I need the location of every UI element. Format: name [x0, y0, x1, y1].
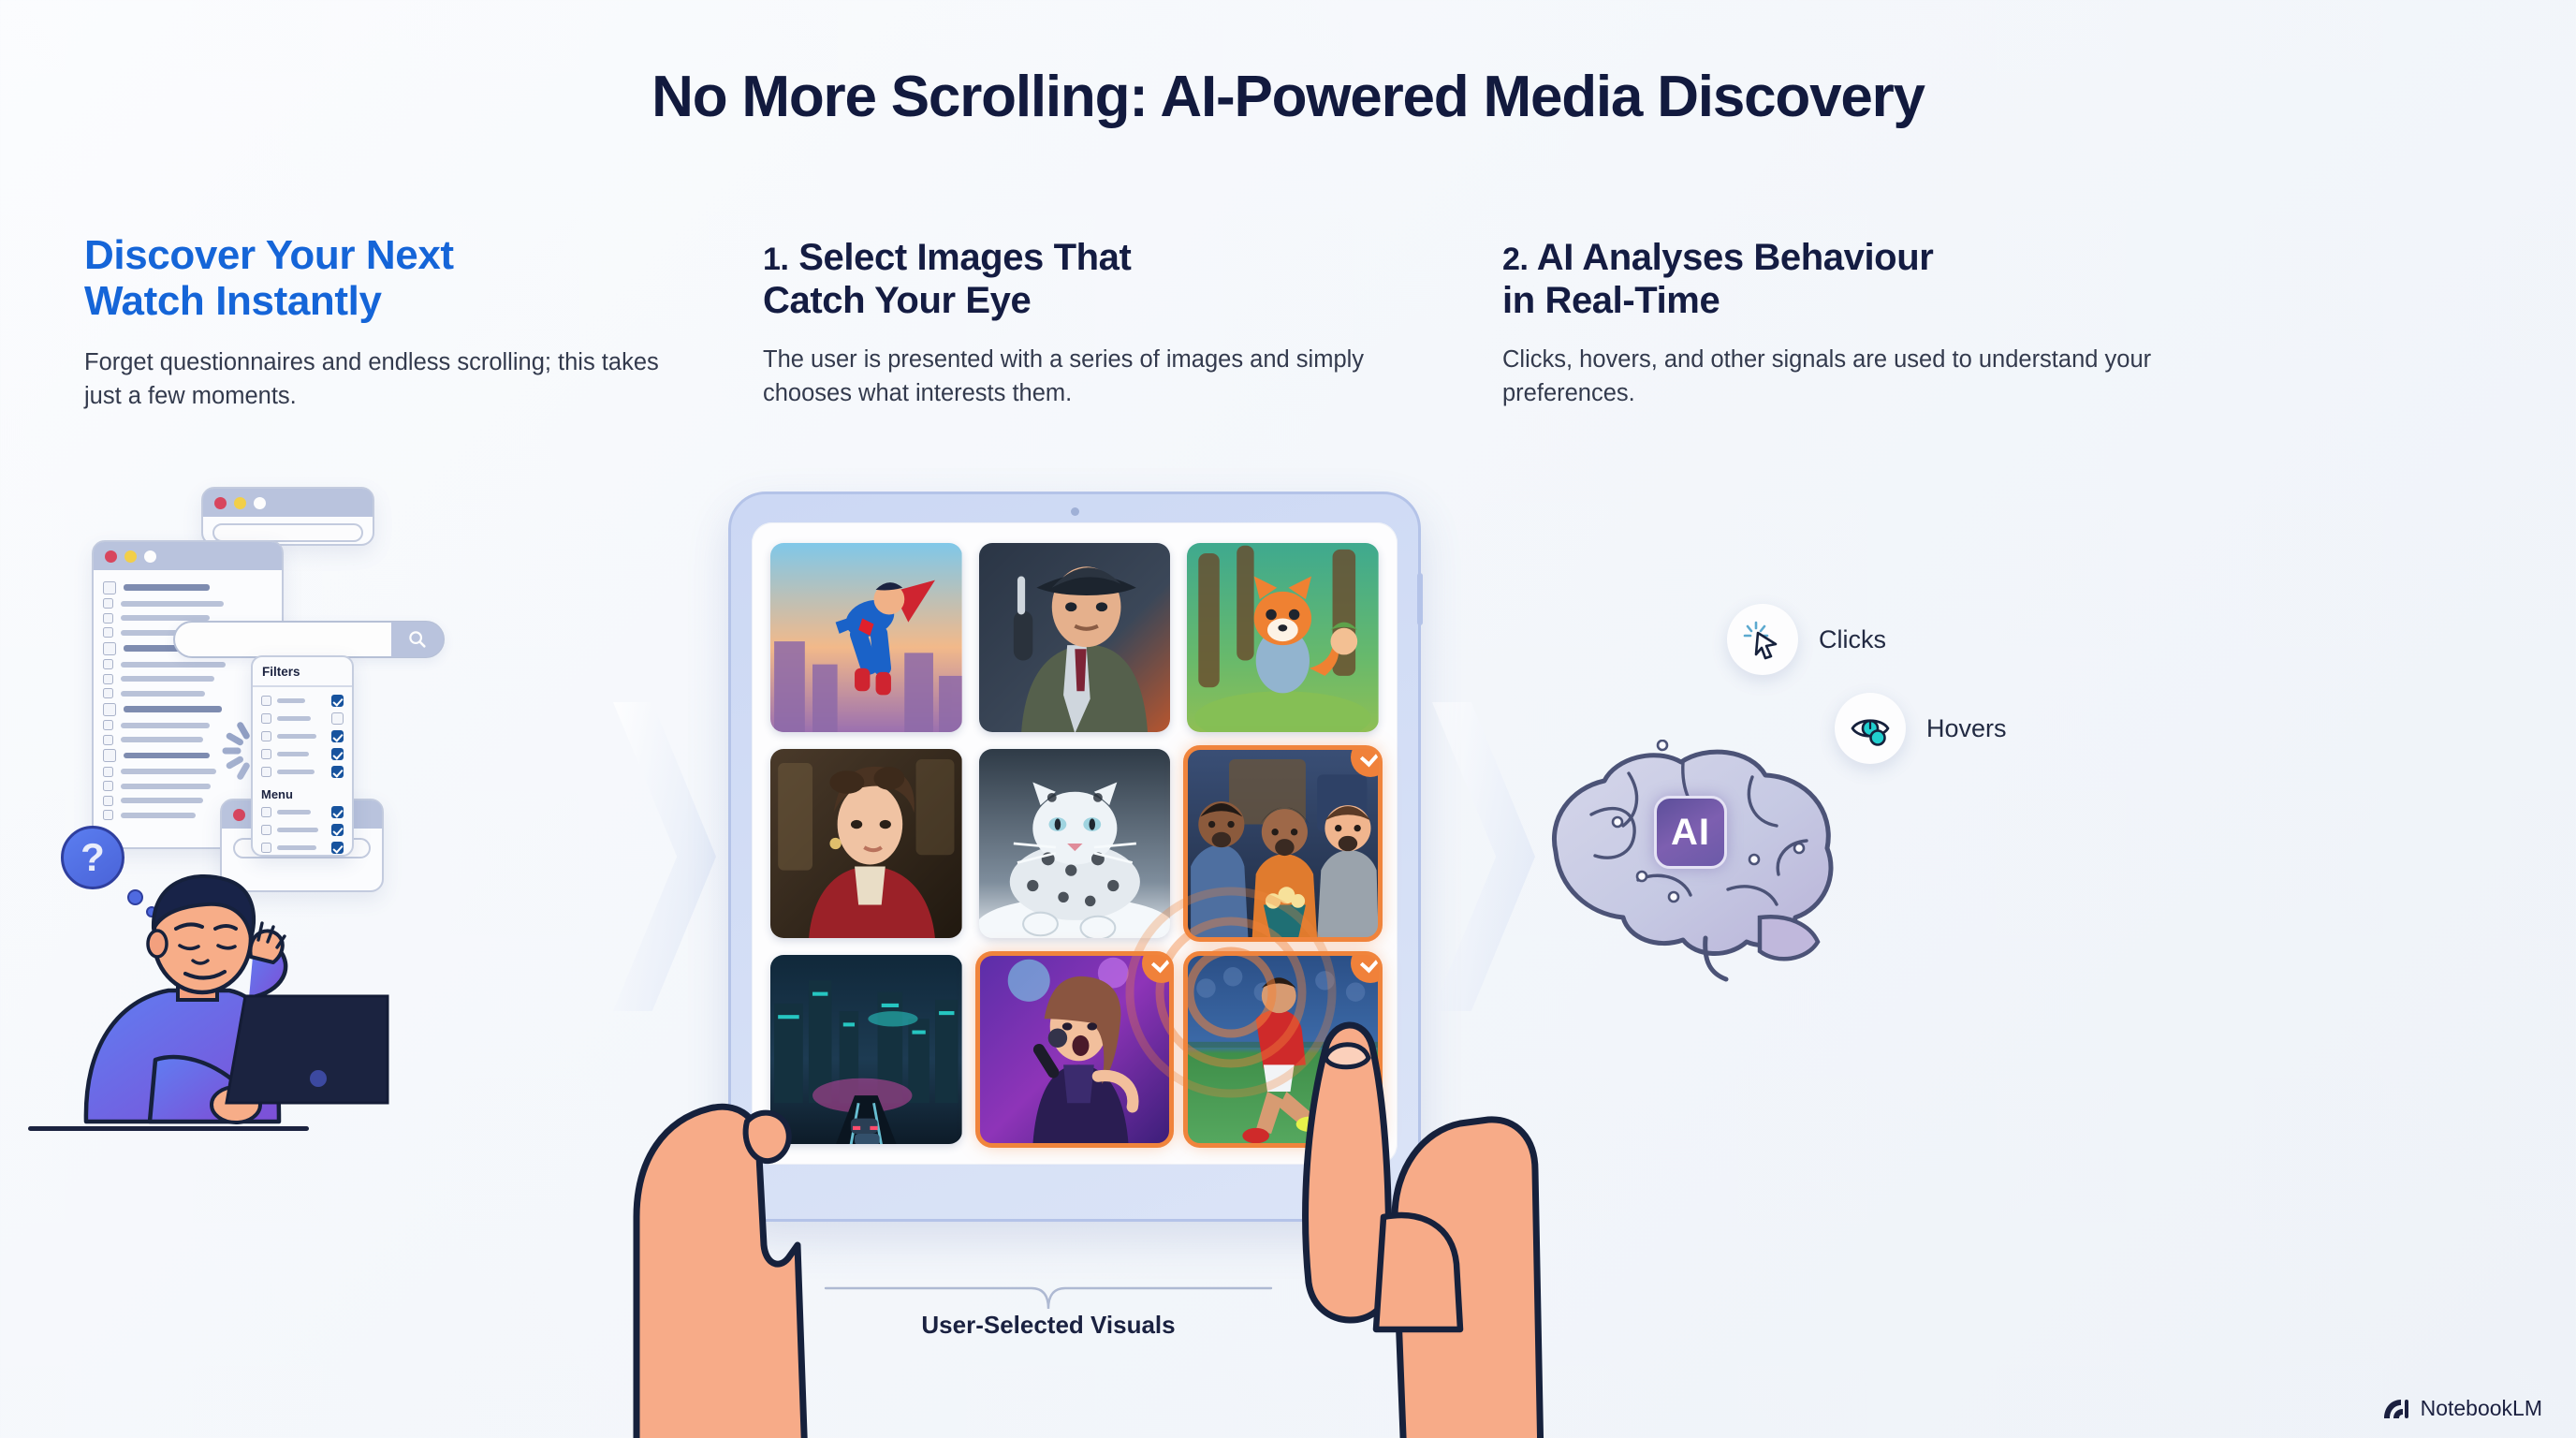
filter-row[interactable] — [253, 745, 352, 763]
hands-holding-tablet — [524, 936, 1647, 1438]
clicks-icon-circle — [1727, 604, 1798, 675]
window-titlebar — [203, 489, 373, 517]
text-line — [124, 706, 222, 712]
checkbox-icon[interactable] — [261, 807, 271, 817]
filter-label-line — [277, 734, 316, 739]
text-line — [121, 813, 196, 818]
toggle-checkbox[interactable] — [331, 730, 344, 742]
column-body: Clicks, hovers, and other signals are us… — [1502, 343, 2158, 410]
menu-title: Menu — [253, 781, 352, 803]
browser-window-top — [201, 487, 374, 546]
text-line — [121, 662, 226, 668]
text-line — [121, 676, 214, 682]
heading-line-2: Watch Instantly — [84, 278, 683, 324]
minimize-dot-icon — [124, 550, 137, 563]
checkbox-icon — [103, 688, 113, 698]
text-line — [121, 769, 216, 774]
watermark-label: NotebookLM — [2421, 1396, 2542, 1421]
column-body: Forget questionnaires and endless scroll… — [84, 345, 683, 413]
heading-line-1: 2. AI Analyses Behaviour — [1502, 236, 2158, 279]
filter-row[interactable] — [253, 803, 352, 821]
touch-ripple-icon — [1119, 880, 1343, 1105]
signal-hovers: Hovers — [1835, 693, 2007, 764]
text-line — [124, 753, 210, 759]
filter-row-list — [253, 687, 352, 781]
checkbox-icon — [103, 720, 113, 730]
thumbnail-period-drama — [770, 749, 962, 938]
checkbox-icon — [103, 674, 113, 684]
hovers-icon-circle — [1835, 693, 1906, 764]
page-title: No More Scrolling: AI-Powered Media Disc… — [0, 64, 2576, 130]
filter-row[interactable] — [253, 692, 352, 710]
checkbox-icon — [103, 703, 116, 716]
frustrated-person: ? — [37, 824, 346, 1142]
checkbox-icon — [103, 810, 113, 820]
maximize-dot-icon — [254, 497, 266, 509]
search-icon — [407, 629, 428, 650]
heading-text: AI Analyses Behaviour — [1537, 237, 1934, 278]
checkbox-icon[interactable] — [261, 713, 271, 724]
ai-chip-badge: AI — [1654, 796, 1727, 869]
eye-hover-icon — [1848, 706, 1893, 751]
filter-label-line — [277, 770, 315, 774]
column-discover: Discover Your Next Watch Instantly Forge… — [84, 232, 683, 413]
text-line — [121, 691, 205, 697]
camera-icon — [1071, 507, 1079, 516]
text-line — [121, 798, 203, 803]
maximize-dot-icon — [144, 550, 156, 563]
cursor-click-icon — [1740, 617, 1785, 662]
close-dot-icon — [105, 550, 117, 563]
thumbnail-detective-noir — [979, 543, 1171, 732]
text-line — [124, 584, 210, 591]
column-ai-analyses: 2. AI Analyses Behaviour in Real-Time Cl… — [1502, 236, 2158, 410]
thumbnail-superhero-flying — [770, 543, 962, 732]
filter-label-line — [277, 810, 311, 814]
toggle-checkbox[interactable] — [331, 712, 344, 725]
chevron-down-icon[interactable] — [328, 668, 343, 677]
toggle-checkbox[interactable] — [331, 695, 344, 707]
filters-title: Filters — [262, 665, 300, 679]
checkbox-icon — [103, 581, 116, 594]
text-line — [121, 784, 211, 789]
checkbox-icon — [103, 659, 113, 669]
column-heading: 2. AI Analyses Behaviour in Real-Time — [1502, 236, 2158, 322]
minimize-dot-icon — [234, 497, 246, 509]
checkbox-icon — [103, 627, 113, 638]
step-number: 1. — [763, 242, 789, 277]
search-button[interactable] — [391, 622, 444, 657]
step-number: 2. — [1502, 242, 1529, 277]
filter-label-line — [277, 698, 305, 703]
tablet-caption: User-Selected Visuals — [824, 1311, 1273, 1340]
list-item — [94, 594, 282, 609]
heading-line-2: in Real-Time — [1502, 279, 2158, 322]
laptop — [221, 989, 389, 1129]
filter-label-line — [277, 716, 311, 721]
filter-row[interactable] — [253, 710, 352, 727]
side-button[interactable] — [1417, 573, 1423, 625]
close-dot-icon — [233, 809, 245, 821]
checkbox-icon — [103, 796, 113, 806]
toggle-checkbox[interactable] — [331, 806, 344, 818]
column-heading: 1. Select Images That Catch Your Eye — [763, 236, 1409, 322]
filter-row[interactable] — [253, 763, 352, 781]
heading-line-1: Discover Your Next — [84, 232, 683, 278]
clicks-label: Clicks — [1819, 625, 1886, 654]
hovers-label: Hovers — [1926, 714, 2007, 743]
image-tile-detective-noir[interactable] — [979, 543, 1171, 732]
heading-text: Select Images That — [798, 237, 1131, 278]
heading-line-2: Catch Your Eye — [763, 279, 1409, 322]
checkbox-icon[interactable] — [261, 696, 271, 706]
filters-header[interactable]: Filters — [253, 657, 352, 687]
column-heading: Discover Your Next Watch Instantly — [84, 232, 683, 325]
window-titlebar — [94, 542, 282, 570]
toggle-checkbox[interactable] — [331, 766, 344, 778]
toggle-checkbox[interactable] — [331, 748, 344, 760]
text-line — [121, 737, 203, 742]
notebooklm-logo-icon — [2382, 1398, 2410, 1420]
image-tile-superhero-flying[interactable] — [770, 543, 962, 732]
close-dot-icon — [214, 497, 227, 509]
heading-line-1: 1. Select Images That — [763, 236, 1409, 279]
ai-brain-illustration: AI — [1526, 740, 1853, 983]
checkbox-icon — [103, 598, 113, 609]
checkbox-icon — [103, 767, 113, 777]
watermark: NotebookLM — [2382, 1396, 2542, 1421]
list-item — [94, 577, 282, 594]
filter-row[interactable] — [253, 727, 352, 745]
checkbox-icon — [103, 735, 113, 745]
image-tile-period-drama[interactable] — [770, 749, 962, 938]
caption-brace-icon — [824, 1284, 1273, 1313]
column-body: The user is presented with a series of i… — [763, 343, 1409, 410]
signal-clicks: Clicks — [1727, 604, 1886, 675]
checkbox-icon — [103, 749, 116, 762]
input-pill — [212, 523, 363, 542]
filter-label-line — [277, 752, 309, 756]
column-select-images: 1. Select Images That Catch Your Eye The… — [763, 236, 1409, 410]
search-input[interactable] — [173, 621, 445, 658]
desk-line — [28, 1126, 309, 1131]
checkbox-icon[interactable] — [261, 749, 271, 759]
checkbox-icon — [103, 613, 113, 624]
checkbox-icon — [103, 781, 113, 791]
checkbox-icon — [103, 642, 116, 655]
checkbox-icon[interactable] — [261, 731, 271, 741]
text-line — [121, 601, 224, 607]
text-line — [121, 723, 210, 728]
image-tile-animated-fox[interactable] — [1187, 543, 1379, 732]
thumbnail-animated-fox — [1187, 543, 1379, 732]
checkbox-icon[interactable] — [261, 767, 271, 777]
